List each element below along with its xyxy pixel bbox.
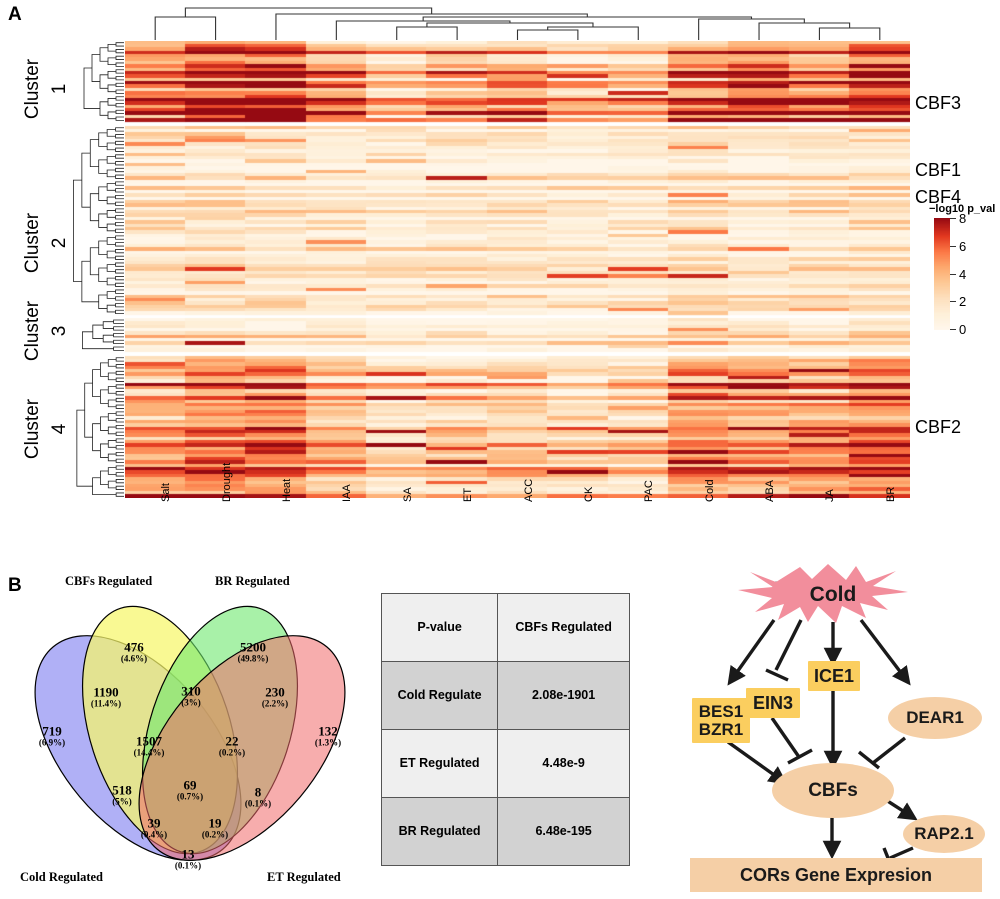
column-label-acc: ACC bbox=[523, 479, 535, 502]
panel-a-heatmap: A Cluster 1 Cluster 2 Cluster 3 Cluster … bbox=[0, 0, 1000, 545]
gene-label-cbf1: CBF1 bbox=[915, 160, 961, 181]
table-row: ET Regulated 4.48e-9 bbox=[382, 730, 630, 798]
node-ice1: ICE1 bbox=[808, 661, 860, 691]
venn-region-cold-br-et: 39 (0.4%) bbox=[141, 816, 167, 839]
column-label-salt: Salt bbox=[160, 483, 172, 502]
cluster-3-label: Cluster bbox=[22, 291, 44, 371]
venn-region-cbfs-et: 19 (0.2%) bbox=[202, 816, 228, 839]
pvalue-table: P-value CBFs Regulated Cold Regulate 2.0… bbox=[381, 593, 630, 866]
row-value-cold: 2.08e-1901 bbox=[498, 662, 630, 730]
row-dendrogram bbox=[62, 41, 124, 498]
venn-region-et-only: 132 (1.3%) bbox=[315, 724, 341, 747]
table-row: BR Regulated 6.48e-195 bbox=[382, 798, 630, 866]
panel-b-venn-table: CBFs Regulated BR Regulated Cold Regulat… bbox=[0, 560, 650, 899]
venn-region-cbfs-br: 310 (3%) bbox=[181, 684, 201, 707]
row-value-br: 6.48e-195 bbox=[498, 798, 630, 866]
venn-title-br: BR Regulated bbox=[215, 574, 290, 589]
column-label-iaa: IAA bbox=[341, 484, 353, 502]
colorbar-tick-label-4: 4 bbox=[959, 268, 966, 281]
heatmap-grid bbox=[125, 41, 910, 498]
cluster-2-label: Cluster bbox=[22, 203, 44, 283]
venn-diagram: CBFs Regulated BR Regulated Cold Regulat… bbox=[10, 580, 370, 890]
venn-region-cbfs-br-et: 22 (0.2%) bbox=[219, 734, 245, 757]
gene-label-cbf3: CBF3 bbox=[915, 93, 961, 114]
row-label-et: ET Regulated bbox=[382, 730, 498, 798]
cluster-1-label: Cluster bbox=[22, 49, 44, 129]
panel-c-pathway: Cold ICE1 EIN3 BES1 BZR1 DEAR1 CBFs RAP2… bbox=[660, 560, 1000, 899]
edge-dear1-cbfs bbox=[873, 738, 905, 763]
colorbar-tick-mark bbox=[950, 246, 956, 247]
edge-cold-ein3-bar bbox=[766, 670, 788, 680]
venn-region-cbfs-only: 476 (4.6%) bbox=[121, 640, 147, 663]
th-pvalue: P-value bbox=[382, 594, 498, 662]
table-row: Cold Regulate 2.08e-1901 bbox=[382, 662, 630, 730]
column-label-heat: Heat bbox=[281, 479, 293, 502]
column-label-cold: Cold bbox=[704, 479, 716, 502]
venn-region-br-et-2: 8 (0.1%) bbox=[245, 785, 271, 808]
panel-a-label: A bbox=[8, 4, 22, 26]
venn-region-br-et: 230 (2.2%) bbox=[262, 685, 288, 708]
colorbar-tick-label-0: 0 bbox=[959, 323, 966, 336]
venn-title-cold: Cold Regulated bbox=[20, 870, 103, 885]
edge-ein3-cbfs bbox=[772, 718, 799, 757]
column-label-drought: Drought bbox=[221, 463, 233, 502]
column-label-ja: JA bbox=[824, 489, 836, 502]
column-label-pac: PAC bbox=[643, 480, 655, 502]
venn-region-cold-et: 13 (0.1%) bbox=[175, 847, 201, 870]
cluster-4-label: Cluster bbox=[22, 389, 44, 469]
edge-cold-ein3 bbox=[776, 620, 801, 670]
node-bes1-bzr1: BES1 BZR1 bbox=[692, 698, 750, 743]
colorbar-tick-mark bbox=[950, 329, 956, 330]
row-value-et: 4.48e-9 bbox=[498, 730, 630, 798]
colorbar-tick-mark bbox=[950, 274, 956, 275]
edge-cbfs-rap21 bbox=[886, 800, 914, 818]
edge-cold-bes1 bbox=[730, 620, 774, 682]
row-label-cold: Cold Regulate bbox=[382, 662, 498, 730]
edge-bes1-cbfs bbox=[728, 742, 784, 782]
venn-title-cbfs: CBFs Regulated bbox=[65, 574, 152, 589]
edge-rap21-cors bbox=[890, 848, 913, 858]
column-label-aba: ABA bbox=[764, 480, 776, 502]
column-dendrogram bbox=[125, 6, 910, 40]
row-label-br: BR Regulated bbox=[382, 798, 498, 866]
colorbar-tick-label-8: 8 bbox=[959, 212, 966, 225]
venn-region-cold-only: 719 (6.9%) bbox=[39, 724, 65, 747]
column-label-sa: SA bbox=[402, 487, 414, 502]
node-rap21: RAP2.1 bbox=[903, 815, 985, 853]
colorbar-tick-mark bbox=[950, 301, 956, 302]
gene-label-cbf2: CBF2 bbox=[915, 417, 961, 438]
colorbar-gradient bbox=[934, 218, 950, 330]
node-cbfs: CBFs bbox=[772, 763, 894, 818]
venn-region-br-only: 5200 (49.8%) bbox=[238, 640, 269, 663]
column-label-ck: CK bbox=[583, 487, 595, 502]
table-header-row: P-value CBFs Regulated bbox=[382, 594, 630, 662]
venn-title-et: ET Regulated bbox=[267, 870, 341, 885]
edge-ein3-cbfs-bar bbox=[788, 750, 812, 763]
column-label-et: ET bbox=[462, 488, 474, 502]
node-dear1: DEAR1 bbox=[888, 697, 982, 739]
venn-region-cold-cbfs-br: 1507 (14.4%) bbox=[134, 734, 165, 757]
colorbar-tick-label-2: 2 bbox=[959, 295, 966, 308]
th-cbfs-regulated: CBFs Regulated bbox=[498, 594, 630, 662]
node-ein3: EIN3 bbox=[746, 688, 800, 718]
colorbar-legend: −log10 p_val 86420 bbox=[932, 203, 1000, 338]
colorbar-tick-mark bbox=[950, 218, 956, 219]
colorbar-tick-label-6: 6 bbox=[959, 240, 966, 253]
edge-cold-dear1 bbox=[861, 620, 908, 682]
node-cold: Cold bbox=[790, 580, 876, 610]
node-cors: CORs Gene Expresion bbox=[690, 858, 982, 892]
venn-region-cold-cbfs: 1190 (11.4%) bbox=[91, 685, 121, 708]
column-label-br: BR bbox=[885, 487, 897, 502]
venn-region-all-four: 69 (0.7%) bbox=[177, 778, 203, 801]
venn-region-cold-br: 518 (5%) bbox=[112, 783, 132, 806]
